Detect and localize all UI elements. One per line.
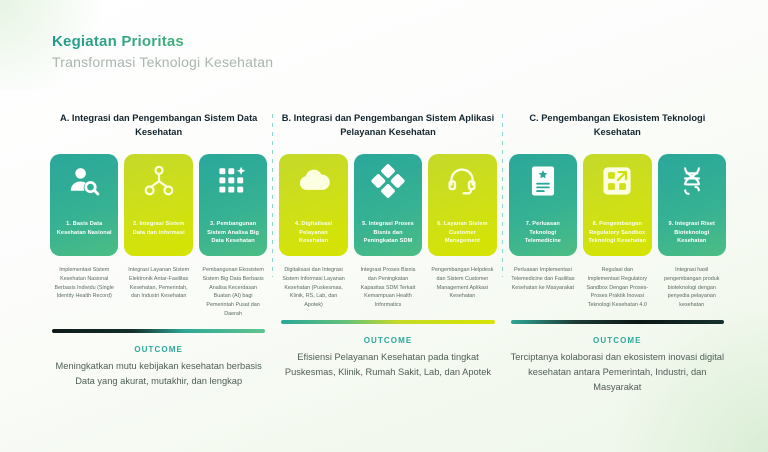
card-label: 7. Perluasan Teknologi Telemedicine — [514, 220, 572, 246]
card-description: Pembangunan Ekosistem Sistem Big Data Be… — [199, 264, 267, 319]
priority-card[interactable]: 7. Perluasan Teknologi Telemedicine — [509, 154, 577, 256]
outcome-text: Terciptanya kolaborasi dan ekosistem ino… — [509, 350, 726, 395]
innovation-growth-icon — [600, 164, 634, 198]
outcome-label: OUTCOME — [279, 336, 496, 345]
card-description: Perluasan Implementasi Telemedicine dan … — [509, 264, 577, 310]
column-1: A. Integrasi dan Pengembangan Sistem Dat… — [44, 112, 273, 395]
page-header: Kegiatan Prioritas Transformasi Teknolog… — [52, 33, 273, 70]
card-description: Pengembangan Helpdesk dan Sistem Custome… — [428, 264, 496, 310]
divider-bar-wrap — [279, 320, 496, 324]
column-header: C. Pengembangan Ekosistem Teknologi Kese… — [509, 112, 726, 142]
outcome-label: OUTCOME — [509, 336, 726, 345]
cloud-icon — [297, 164, 331, 198]
column-2: B. Integrasi dan Pengembangan Sistem Apl… — [273, 112, 502, 395]
priority-card[interactable]: 1. Basis Data Kesehatan Nasional — [50, 154, 118, 256]
user-search-icon — [67, 164, 101, 198]
divider-bar-wrap — [509, 320, 726, 324]
big-data-grid-icon — [216, 164, 250, 198]
priority-card[interactable]: 6. Layanan Sistem Customer Management — [428, 154, 496, 256]
card-label: 4. Digitalisasi Pelayanan Kesehatan — [284, 220, 342, 246]
divider-bar — [281, 320, 494, 324]
card-row: 4. Digitalisasi Pelayanan Kesehatan5. In… — [279, 154, 496, 256]
columns-container: A. Integrasi dan Pengembangan Sistem Dat… — [44, 112, 732, 395]
card-label: 1. Basis Data Kesehatan Nasional — [55, 220, 113, 237]
card-label: 9. Integrasi Riset Bioteknologi Kesehata… — [663, 220, 721, 246]
priority-card[interactable]: 8. Pengembangan Regulatory Sandbox Tekno… — [583, 154, 651, 256]
description-row: Implementasi Sistem Kesehatan Nasional B… — [50, 264, 267, 319]
card-label: 3. Pembangunan Sistem Analisa Big Data K… — [204, 220, 262, 246]
outcome-block: OUTCOMEMeningkatkan mutu kebijakan keseh… — [50, 345, 267, 389]
description-row: Perluasan Implementasi Telemedicine dan … — [509, 264, 726, 310]
card-description: Implementasi Sistem Kesehatan Nasional B… — [50, 264, 118, 319]
medical-document-icon — [526, 164, 560, 198]
priority-card[interactable]: 3. Pembangunan Sistem Analisa Big Data K… — [199, 154, 267, 256]
outcome-text: Meningkatkan mutu kebijakan kesehatan be… — [50, 359, 267, 389]
priority-card[interactable]: 5. Integrasi Proses Bisnis dan Peningkat… — [354, 154, 422, 256]
divider-bar — [52, 329, 265, 333]
card-label: 5. Integrasi Proses Bisnis dan Peningkat… — [359, 220, 417, 246]
card-row: 7. Perluasan Teknologi Telemedicine8. Pe… — [509, 154, 726, 256]
priority-card[interactable]: 2. Integrasi Sistem Data dan Informasi — [124, 154, 192, 256]
card-description: Integrasi Layanan Sistem Elektronik Anta… — [124, 264, 192, 319]
divider-bar-wrap — [50, 329, 267, 333]
page-title: Kegiatan Prioritas — [52, 33, 273, 50]
integration-diamond-icon — [371, 164, 405, 198]
card-description: Integrasi Proses Bisnis dan Peningkatan … — [354, 264, 422, 310]
priority-card[interactable]: 9. Integrasi Riset Bioteknologi Kesehata… — [658, 154, 726, 256]
card-label: 2. Integrasi Sistem Data dan Informasi — [129, 220, 187, 237]
priority-card[interactable]: 4. Digitalisasi Pelayanan Kesehatan — [279, 154, 347, 256]
column-3: C. Pengembangan Ekosistem Teknologi Kese… — [503, 112, 732, 395]
page-subtitle: Transformasi Teknologi Kesehatan — [52, 54, 273, 70]
network-share-icon — [142, 164, 176, 198]
card-description: Digitalisasi dan Integrasi Sistem Inform… — [279, 264, 347, 310]
headset-support-icon — [445, 164, 479, 198]
card-description: Regulasi dan Implementasi Regulatory San… — [583, 264, 651, 310]
infographic-page: Kegiatan Prioritas Transformasi Teknolog… — [0, 0, 768, 452]
card-label: 6. Layanan Sistem Customer Management — [433, 220, 491, 246]
outcome-text: Efisiensi Pelayanan Kesehatan pada tingk… — [279, 350, 496, 380]
divider-bar — [511, 320, 724, 324]
outcome-label: OUTCOME — [50, 345, 267, 354]
outcome-block: OUTCOMEEfisiensi Pelayanan Kesehatan pad… — [279, 336, 496, 380]
card-description: Integrasi hasil pengembangan produk biot… — [658, 264, 726, 310]
description-row: Digitalisasi dan Integrasi Sistem Inform… — [279, 264, 496, 310]
column-header: A. Integrasi dan Pengembangan Sistem Dat… — [50, 112, 267, 142]
dna-biotech-icon — [675, 164, 709, 198]
card-row: 1. Basis Data Kesehatan Nasional2. Integ… — [50, 154, 267, 256]
card-label: 8. Pengembangan Regulatory Sandbox Tekno… — [588, 220, 646, 246]
column-header: B. Integrasi dan Pengembangan Sistem Apl… — [279, 112, 496, 142]
outcome-block: OUTCOMETerciptanya kolaborasi dan ekosis… — [509, 336, 726, 395]
